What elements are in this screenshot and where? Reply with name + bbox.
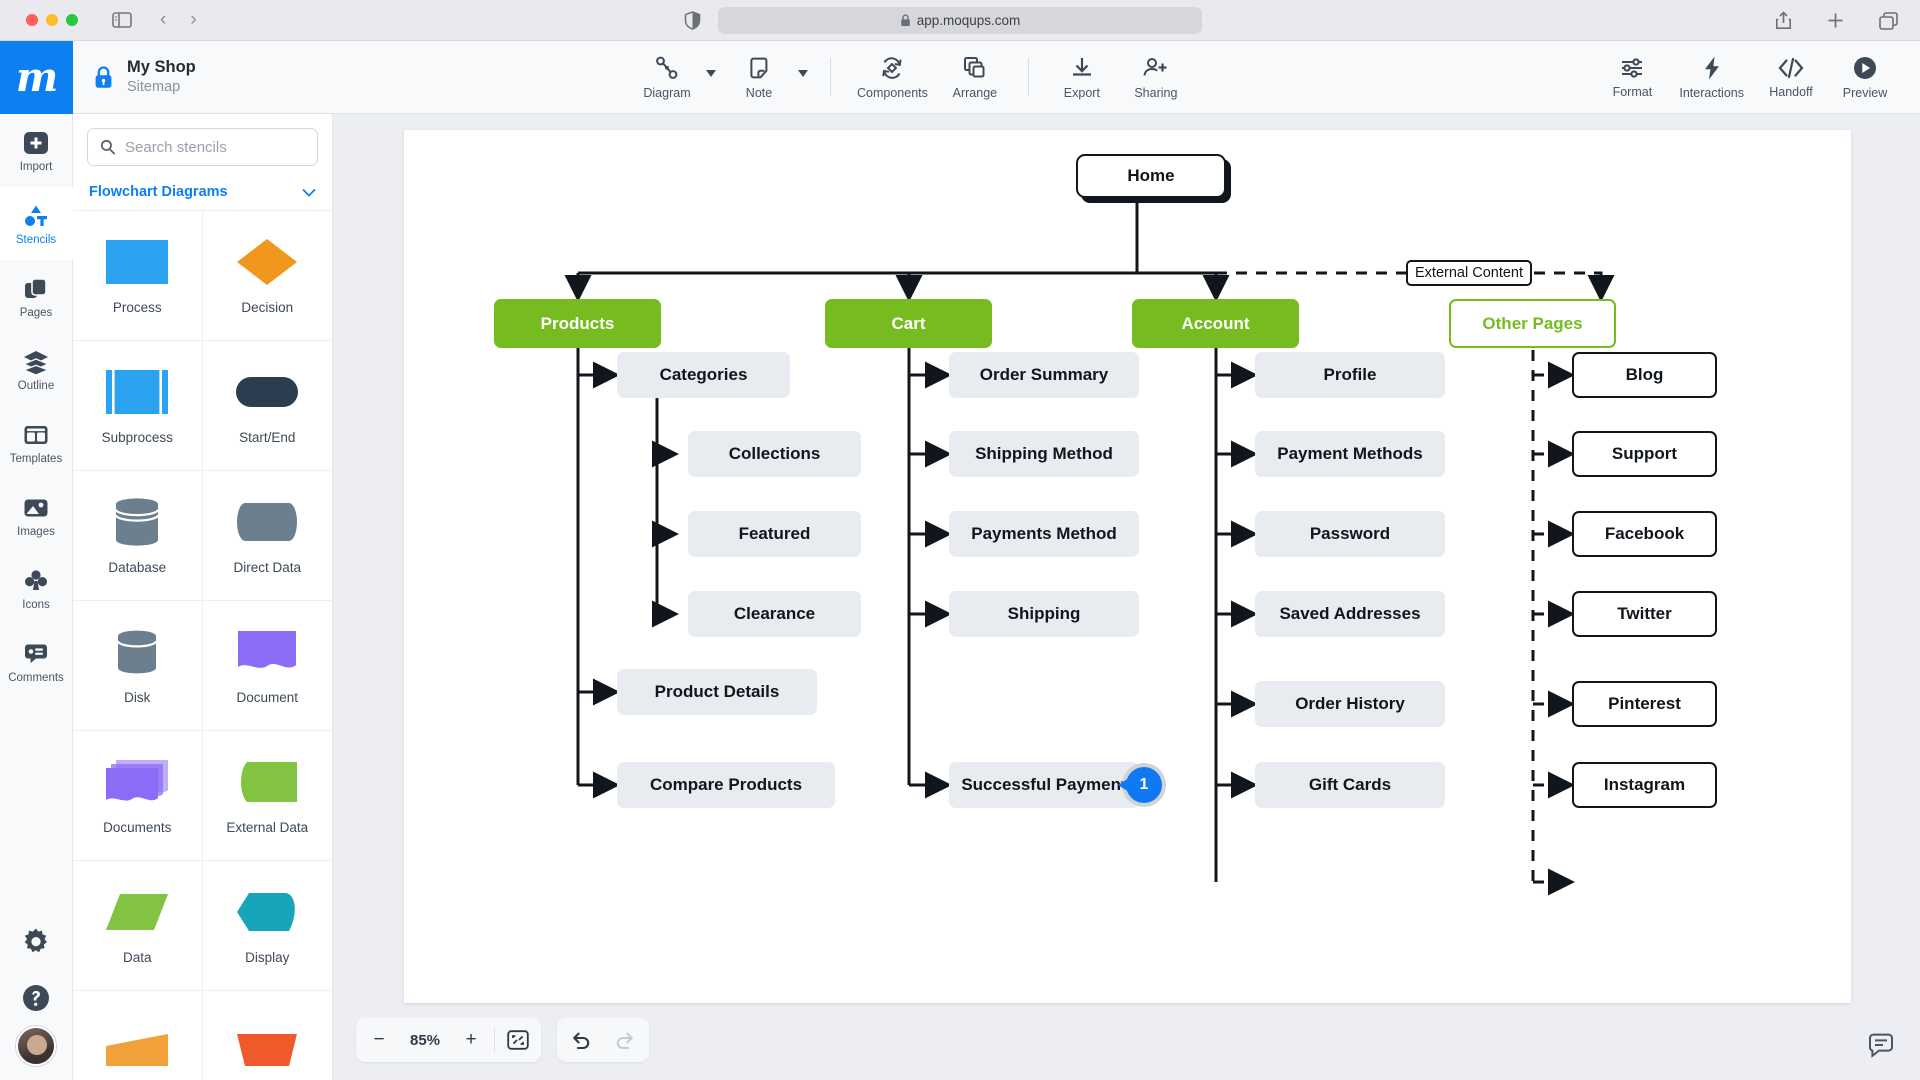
stencil-label: Document: [236, 690, 298, 705]
chat-support-button[interactable]: [1868, 1032, 1894, 1058]
node-payment-methods[interactable]: Payment Methods: [1255, 431, 1445, 477]
rail-item-comments[interactable]: Comments: [0, 625, 73, 698]
arrange-icon: [962, 55, 988, 81]
stencil-trapezoid[interactable]: [203, 990, 333, 1080]
export-icon: [1069, 55, 1095, 81]
node-shipping[interactable]: Shipping: [949, 591, 1139, 637]
redo-icon: [615, 1030, 637, 1050]
stencil-direct-data[interactable]: Direct Data: [203, 470, 333, 600]
note-dropdown-caret-icon[interactable]: [798, 70, 808, 77]
node-account[interactable]: Account: [1132, 299, 1299, 348]
pill-shape-icon: [236, 366, 298, 418]
sidebar-toggle-icon[interactable]: [112, 12, 132, 28]
diagram-dropdown-caret-icon[interactable]: [706, 70, 716, 77]
tool-interactions[interactable]: Interactions: [1669, 41, 1754, 113]
search-icon: [100, 139, 116, 155]
play-circle-icon: [1852, 55, 1878, 81]
stencil-process[interactable]: Process: [73, 210, 203, 340]
rail-item-templates-label: Templates: [10, 453, 62, 465]
rail-item-settings[interactable]: [0, 914, 73, 970]
comment-badge[interactable]: 1: [1126, 767, 1162, 803]
node-featured[interactable]: Featured: [688, 511, 861, 557]
minimize-window-button[interactable]: [46, 14, 58, 26]
back-button[interactable]: ‹: [160, 9, 166, 31]
page-title: My Shop: [127, 57, 196, 78]
tool-format[interactable]: Format: [1595, 41, 1669, 113]
stencil-database[interactable]: Database: [73, 470, 203, 600]
document-title-block[interactable]: My Shop Sitemap: [73, 41, 196, 113]
stencil-label: Documents: [103, 820, 171, 835]
close-window-button[interactable]: [26, 14, 38, 26]
node-blog[interactable]: Blog: [1572, 352, 1717, 398]
stencils-panel: Search stencils Flowchart Diagrams Proce…: [73, 114, 333, 1080]
stencil-label: Database: [108, 560, 166, 575]
node-order-summary[interactable]: Order Summary: [949, 352, 1139, 398]
tool-interactions-label: Interactions: [1679, 86, 1744, 100]
node-saved-addresses[interactable]: Saved Addresses: [1255, 591, 1445, 637]
stencil-data[interactable]: Data: [73, 860, 203, 990]
layers-icon: [22, 348, 50, 376]
tool-sharing-label: Sharing: [1134, 86, 1177, 100]
window-traffic-lights[interactable]: [26, 14, 78, 26]
node-successful-payment[interactable]: Successful Payment: [949, 762, 1139, 808]
node-shipping-method[interactable]: Shipping Method: [949, 431, 1139, 477]
tool-arrange[interactable]: Arrange: [938, 41, 1012, 113]
node-password[interactable]: Password: [1255, 511, 1445, 557]
sharing-icon: [1142, 55, 1169, 81]
chevron-down-icon[interactable]: [302, 188, 316, 197]
database-shape-icon: [106, 496, 168, 548]
node-other-pages[interactable]: Other Pages: [1449, 299, 1616, 348]
lock-icon: [900, 14, 911, 27]
tool-diagram-label: Diagram: [643, 86, 690, 100]
rail-item-help[interactable]: [0, 970, 73, 1026]
stencil-external-data[interactable]: External Data: [203, 730, 333, 860]
node-payments-method[interactable]: Payments Method: [949, 511, 1139, 557]
node-order-history[interactable]: Order History: [1255, 681, 1445, 727]
comment-icon: [22, 640, 50, 668]
tool-export-label: Export: [1064, 86, 1100, 100]
tool-sharing[interactable]: Sharing: [1119, 41, 1193, 113]
app-toolbar: m My Shop Sitemap Diagram Note: [0, 41, 1920, 114]
node-facebook[interactable]: Facebook: [1572, 511, 1717, 557]
moqups-logo[interactable]: m: [0, 41, 73, 114]
external-data-shape-icon: [236, 756, 298, 808]
node-clearance[interactable]: Clearance: [688, 591, 861, 637]
tool-handoff-label: Handoff: [1769, 85, 1813, 99]
tab-overview-icon[interactable]: [1879, 12, 1898, 30]
tool-handoff[interactable]: Handoff: [1754, 41, 1828, 113]
disk-shape-icon: [106, 626, 168, 678]
page-subtitle: Sitemap: [127, 78, 196, 97]
toolbar-divider-2: [1028, 58, 1029, 96]
stencils-icon: [22, 202, 50, 230]
document-lock-icon: [93, 65, 114, 90]
search-input[interactable]: Search stencils: [87, 128, 318, 166]
browser-toolbar: ‹ › app.moqups.com: [0, 0, 1920, 41]
ramp-shape-icon: [106, 1024, 168, 1076]
url-text: app.moqups.com: [917, 13, 1021, 28]
parallelogram-shape-icon: [106, 886, 168, 938]
rail-item-icons-label: Icons: [22, 599, 50, 611]
tool-preview-label: Preview: [1843, 86, 1887, 100]
zoom-out-button[interactable]: −: [356, 1018, 402, 1062]
new-tab-icon[interactable]: [1827, 12, 1844, 29]
lightning-icon: [1700, 55, 1724, 81]
rail-item-outline[interactable]: Outline: [0, 333, 73, 406]
zoom-in-button[interactable]: +: [448, 1018, 494, 1062]
note-icon: [746, 55, 772, 81]
rail-item-stencils-label: Stencils: [16, 234, 56, 246]
diagram-icon: [654, 55, 680, 81]
node-profile[interactable]: Profile: [1255, 352, 1445, 398]
node-categories[interactable]: Categories: [617, 352, 790, 398]
stencil-label: External Data: [226, 820, 308, 835]
stencil-label: Direct Data: [233, 560, 301, 575]
rail-item-images-label: Images: [17, 526, 55, 538]
documents-shape-icon: [106, 756, 168, 808]
left-icon-rail: Import Stencils Pages Outline Templates …: [0, 114, 73, 1080]
zoom-level[interactable]: 85%: [402, 1032, 448, 1049]
tool-arrange-label: Arrange: [953, 86, 997, 100]
stencils-section-title: Flowchart Diagrams: [89, 184, 228, 200]
forward-button[interactable]: ›: [190, 9, 196, 31]
maximize-window-button[interactable]: [66, 14, 78, 26]
stencil-disk[interactable]: Disk: [73, 600, 203, 730]
rail-item-outline-label: Outline: [18, 380, 54, 392]
document-shape-icon: [236, 626, 298, 678]
undo-button[interactable]: [557, 1018, 603, 1062]
rail-item-pages[interactable]: Pages: [0, 260, 73, 333]
chat-icon: [1868, 1032, 1894, 1058]
node-gift-cards[interactable]: Gift Cards: [1255, 762, 1445, 808]
help-circle-icon: [21, 983, 51, 1013]
toolbar-divider: [830, 58, 831, 96]
stencil-grid: Process Decision Subprocess Start/End Da…: [73, 210, 332, 1080]
stencil-documents[interactable]: Documents: [73, 730, 203, 860]
rail-item-pages-label: Pages: [20, 307, 53, 319]
rail-item-stencils[interactable]: Stencils: [0, 187, 73, 260]
zoom-controls: − 85% +: [356, 1018, 541, 1062]
redo-button[interactable]: [603, 1018, 649, 1062]
direct-data-shape-icon: [236, 496, 298, 548]
display-shape-icon: [236, 886, 298, 938]
fit-screen-button[interactable]: [495, 1018, 541, 1062]
stencil-start-end[interactable]: Start/End: [203, 340, 333, 470]
history-controls: [557, 1018, 649, 1062]
stencil-label: Display: [245, 950, 289, 965]
tool-format-label: Format: [1613, 85, 1653, 99]
templates-icon: [22, 421, 50, 449]
tool-diagram[interactable]: Diagram: [630, 41, 704, 113]
diagram-connectors: [404, 130, 1851, 1003]
rail-item-images[interactable]: Images: [0, 479, 73, 552]
image-icon: [22, 494, 50, 522]
shield-icon[interactable]: [684, 11, 701, 30]
canvas-area[interactable]: Home External Content Products Cart Acco…: [333, 114, 1920, 1080]
share-icon[interactable]: [1775, 11, 1792, 30]
search-placeholder: Search stencils: [125, 139, 227, 156]
node-instagram[interactable]: Instagram: [1572, 762, 1717, 808]
rail-item-templates[interactable]: Templates: [0, 406, 73, 479]
stencil-decision[interactable]: Decision: [203, 210, 333, 340]
stencil-label: Disk: [124, 690, 150, 705]
subprocess-shape-icon: [106, 366, 168, 418]
node-product-details[interactable]: Product Details: [617, 669, 817, 715]
stencil-ramp[interactable]: [73, 990, 203, 1080]
tool-components-label: Components: [857, 86, 928, 100]
stencils-section-header[interactable]: Flowchart Diagrams: [73, 176, 332, 210]
pages-icon: [22, 275, 50, 303]
node-products[interactable]: Products: [494, 299, 661, 348]
tool-note[interactable]: Note: [722, 41, 796, 113]
tool-preview[interactable]: Preview: [1828, 41, 1902, 113]
tool-export[interactable]: Export: [1045, 41, 1119, 113]
stencil-label: Subprocess: [102, 430, 173, 445]
rail-item-import-label: Import: [20, 161, 53, 173]
node-pinterest[interactable]: Pinterest: [1572, 681, 1717, 727]
rail-item-comments-label: Comments: [8, 672, 64, 684]
rail-item-icons[interactable]: Icons: [0, 552, 73, 625]
tool-components[interactable]: Components: [847, 41, 938, 113]
gear-icon: [21, 927, 51, 957]
stencil-document[interactable]: Document: [203, 600, 333, 730]
node-compare-products[interactable]: Compare Products: [617, 762, 835, 808]
node-twitter[interactable]: Twitter: [1572, 591, 1717, 637]
stencil-label: Decision: [241, 300, 293, 315]
node-collections[interactable]: Collections: [688, 431, 861, 477]
format-sliders-icon: [1619, 56, 1645, 80]
node-home[interactable]: Home: [1076, 154, 1226, 198]
edge-label-external-content[interactable]: External Content: [1406, 260, 1532, 286]
avatar[interactable]: [16, 1026, 56, 1066]
node-cart[interactable]: Cart: [825, 299, 992, 348]
decision-shape-icon: [236, 236, 298, 288]
rail-item-import[interactable]: Import: [0, 114, 73, 187]
stencil-label: Data: [123, 950, 152, 965]
stencil-subprocess[interactable]: Subprocess: [73, 340, 203, 470]
zoom-toolbar: − 85% +: [356, 1018, 649, 1062]
diagram-paper[interactable]: Home External Content Products Cart Acco…: [404, 130, 1851, 1003]
stencil-display[interactable]: Display: [203, 860, 333, 990]
tool-note-label: Note: [746, 86, 772, 100]
plus-square-icon: [22, 129, 50, 157]
process-shape-icon: [106, 236, 168, 288]
club-icon: [22, 567, 50, 595]
code-brackets-icon: [1777, 56, 1805, 80]
fit-screen-icon: [507, 1030, 529, 1050]
stencil-label: Process: [113, 300, 162, 315]
stencil-label: Start/End: [239, 430, 295, 445]
undo-icon: [569, 1030, 591, 1050]
address-bar[interactable]: app.moqups.com: [718, 7, 1202, 34]
node-support[interactable]: Support: [1572, 431, 1717, 477]
components-icon: [879, 55, 905, 81]
trapezoid-shape-icon: [236, 1024, 298, 1076]
